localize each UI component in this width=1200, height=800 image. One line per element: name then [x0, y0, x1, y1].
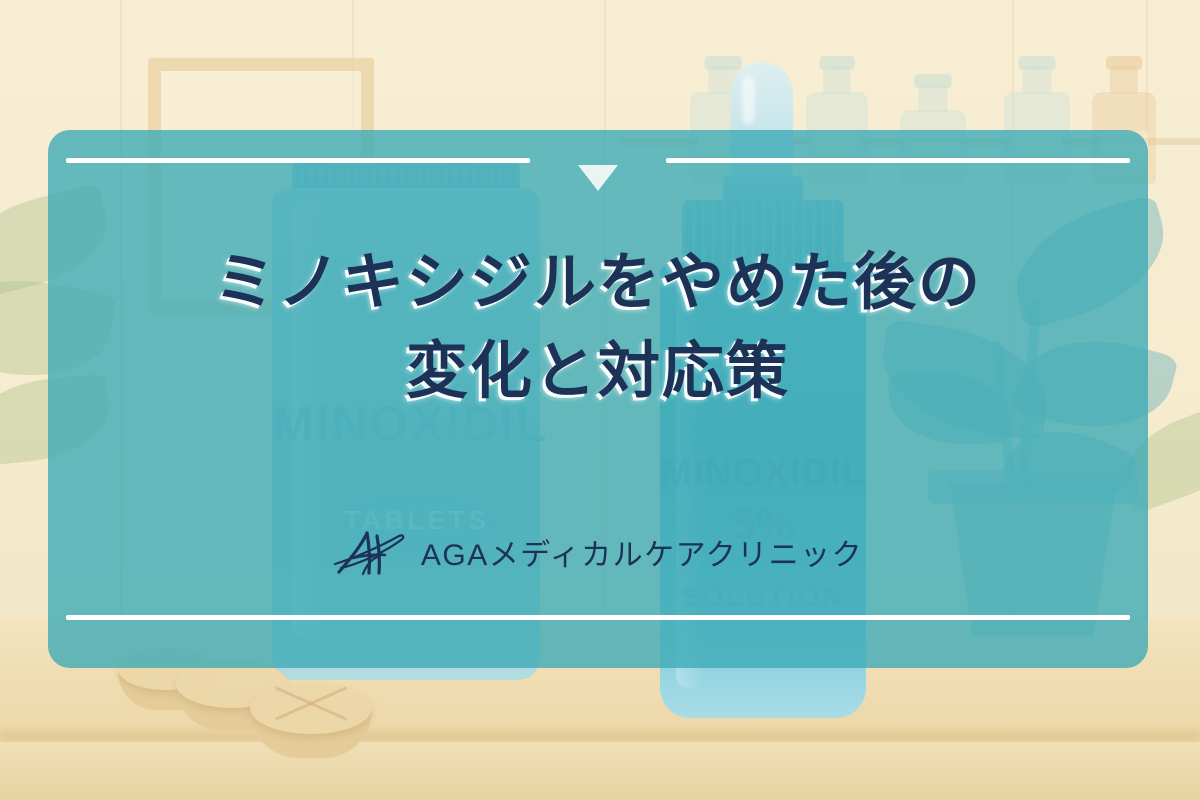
bottom-rule [66, 615, 1130, 620]
pill [250, 682, 372, 734]
top-left-rule [66, 158, 530, 163]
hero-banner: MINOXIDIL TABLETS MINOXIDIL 5% SOLUTION [0, 0, 1200, 800]
counter-front [0, 742, 1200, 800]
aga-monogram-icon [333, 528, 407, 576]
bottle-neck [918, 84, 947, 112]
hero-panel: ミノキシジルをやめた後の 変化と対応策 AGAメディカルケアクリニック [48, 130, 1148, 668]
dropper-bulb-gloss [742, 76, 755, 124]
top-right-rule [666, 158, 1130, 163]
counter-edge [0, 730, 1200, 742]
brand-logo: AGAメディカルケアクリニック [48, 528, 1148, 576]
page-title: ミノキシジルをやめた後の 変化と対応策 [48, 238, 1148, 417]
triangle-down-icon [578, 165, 618, 191]
brand-logo-text: AGAメディカルケアクリニック [421, 530, 863, 574]
bottle-neck [1022, 66, 1051, 94]
bottle-neck [1110, 66, 1138, 94]
bottle-neck [823, 66, 850, 94]
